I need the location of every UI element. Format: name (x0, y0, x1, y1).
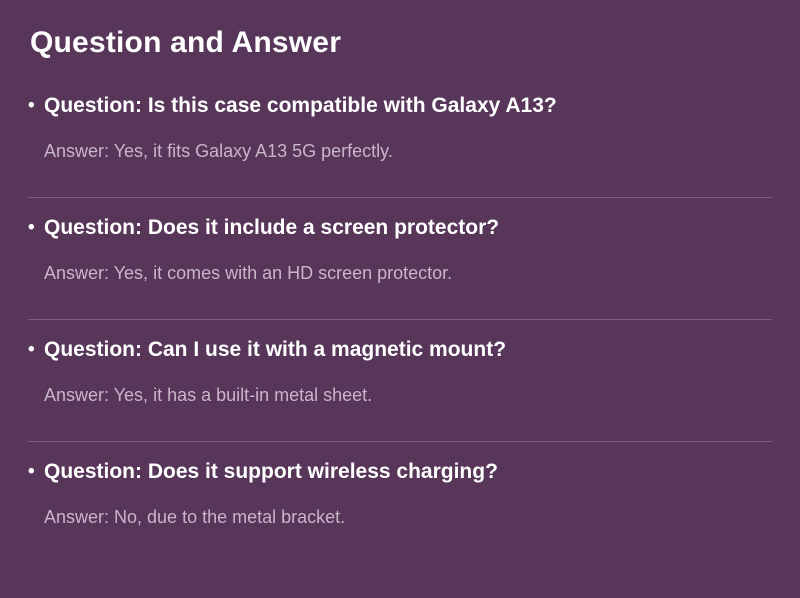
divider (28, 441, 772, 442)
qa-question: • Question: Does it support wireless cha… (0, 458, 800, 486)
divider (28, 197, 772, 198)
list-item: • Question: Can I use it with a magnetic… (0, 336, 800, 458)
divider (28, 319, 772, 320)
qa-answer-text: Answer: Yes, it fits Galaxy A13 5G perfe… (0, 120, 800, 163)
qa-question-text: Question: Is this case compatible with G… (44, 94, 557, 117)
qa-answer-text: Answer: No, due to the metal bracket. (0, 486, 800, 529)
qa-list: • Question: Is this case compatible with… (0, 92, 800, 529)
page-title: Question and Answer (30, 25, 341, 61)
qa-question-text: Question: Can I use it with a magnetic m… (44, 338, 506, 361)
qa-question: • Question: Can I use it with a magnetic… (0, 336, 800, 364)
list-item: • Question: Is this case compatible with… (0, 92, 800, 214)
qa-question: • Question: Is this case compatible with… (0, 92, 800, 120)
qa-answer-text: Answer: Yes, it comes with an HD screen … (0, 242, 800, 285)
bullet-icon: • (28, 458, 40, 486)
bullet-icon: • (28, 214, 40, 242)
question-and-answer-panel: Question and Answer • Question: Is this … (0, 0, 800, 598)
qa-question-text: Question: Does it support wireless charg… (44, 460, 498, 483)
qa-question-text: Question: Does it include a screen prote… (44, 216, 499, 239)
bullet-icon: • (28, 336, 40, 364)
list-item: • Question: Does it include a screen pro… (0, 214, 800, 336)
qa-answer-text: Answer: Yes, it has a built-in metal she… (0, 364, 800, 407)
list-item: • Question: Does it support wireless cha… (0, 458, 800, 529)
qa-question: • Question: Does it include a screen pro… (0, 214, 800, 242)
bullet-icon: • (28, 92, 40, 120)
